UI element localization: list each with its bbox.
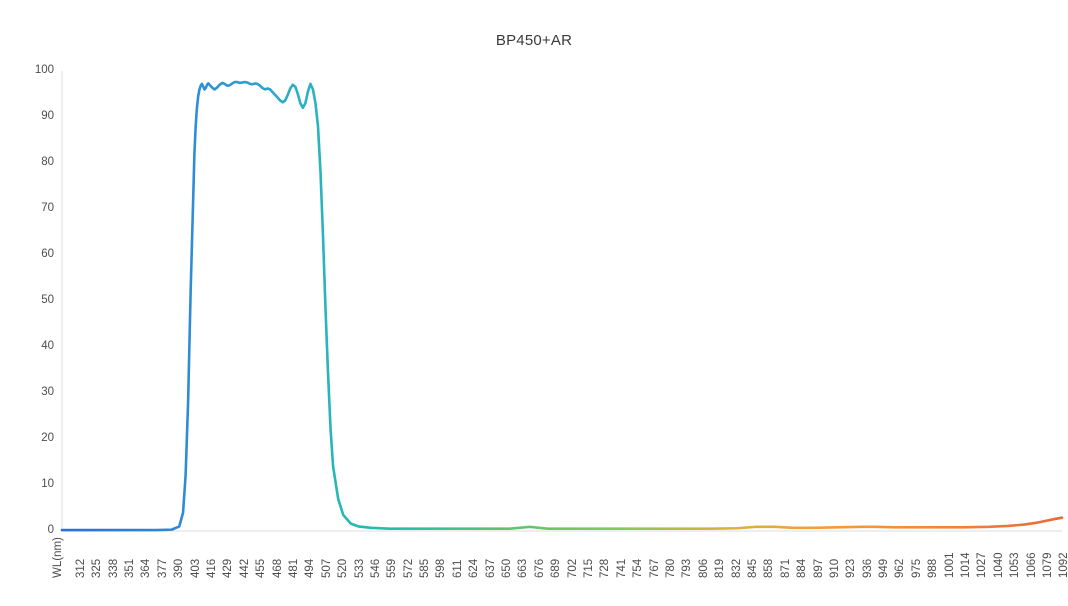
x-tick-label: 819: [715, 559, 726, 578]
x-tick-label: 832: [732, 559, 743, 578]
x-tick-label: 494: [305, 559, 316, 578]
x-tick-label: 806: [699, 559, 710, 578]
plot-area: [0, 0, 1068, 606]
x-tick-label: 1092: [1059, 552, 1068, 578]
x-tick-label: 858: [764, 559, 775, 578]
x-tick-label: 533: [355, 559, 366, 578]
x-tick-label: 741: [617, 559, 628, 578]
x-tick-label: 845: [748, 559, 759, 578]
x-tick-label: 728: [600, 559, 611, 578]
chart-container: BP450+AR 0102030405060708090100 31232533…: [0, 0, 1068, 606]
x-tick-label: 377: [158, 559, 169, 578]
y-tick-label: 30: [8, 387, 54, 398]
x-tick-label: 715: [584, 559, 595, 578]
x-tick-label: 312: [76, 559, 87, 578]
x-tick-label: 884: [797, 559, 808, 578]
x-tick-label: 325: [92, 559, 103, 578]
x-tick-label: 897: [814, 559, 825, 578]
x-tick-label: 598: [436, 559, 447, 578]
x-tick-label: 624: [469, 559, 480, 578]
y-tick-label: 20: [8, 433, 54, 444]
x-tick-label: 975: [912, 559, 923, 578]
x-tick-label: 559: [387, 559, 398, 578]
x-tick-label: 663: [518, 559, 529, 578]
x-tick-label: 468: [273, 559, 284, 578]
x-tick-label: 429: [223, 559, 234, 578]
x-tick-label: 910: [830, 559, 841, 578]
y-tick-label: 80: [8, 157, 54, 168]
x-tick-label: 936: [863, 559, 874, 578]
x-tick-label: 1014: [961, 552, 972, 578]
x-tick-label: 546: [371, 559, 382, 578]
x-tick-label: 949: [879, 559, 890, 578]
x-tick-label: 793: [682, 559, 693, 578]
x-tick-label: 481: [289, 559, 300, 578]
x-tick-label: 676: [535, 559, 546, 578]
x-tick-label: 702: [568, 559, 579, 578]
x-axis-label: WL(nm): [52, 537, 64, 578]
x-tick-label: 364: [141, 559, 152, 578]
x-tick-label: 1001: [945, 552, 956, 578]
y-tick-label: 50: [8, 295, 54, 306]
x-tick-label: 585: [420, 559, 431, 578]
x-tick-label: 689: [551, 559, 562, 578]
x-tick-label: 1066: [1027, 552, 1038, 578]
x-tick-label: 780: [666, 559, 677, 578]
y-tick-label: 0: [8, 525, 54, 536]
x-tick-label: 455: [256, 559, 267, 578]
x-tick-label: 507: [322, 559, 333, 578]
x-tick-label: 1053: [1010, 552, 1021, 578]
transmission-curve: [62, 82, 1062, 530]
x-tick-label: 520: [338, 559, 349, 578]
x-tick-label: 416: [207, 559, 218, 578]
x-tick-label: 338: [109, 559, 120, 578]
y-tick-label: 40: [8, 341, 54, 352]
x-tick-label: 767: [650, 559, 661, 578]
y-tick-label: 10: [8, 479, 54, 490]
x-tick-label: 572: [404, 559, 415, 578]
x-tick-label: 442: [240, 559, 251, 578]
x-tick-label: 1079: [1043, 552, 1054, 578]
x-tick-label: 611: [453, 560, 464, 578]
x-tick-label: 754: [633, 559, 644, 578]
x-tick-label: 637: [486, 559, 497, 578]
x-tick-label: 1027: [977, 552, 988, 578]
x-tick-label: 871: [781, 559, 792, 578]
y-tick-label: 60: [8, 249, 54, 260]
x-tick-label: 390: [174, 559, 185, 578]
x-tick-label: 1040: [994, 552, 1005, 578]
x-tick-label: 403: [191, 559, 202, 578]
x-tick-label: 988: [928, 559, 939, 578]
y-tick-label: 70: [8, 203, 54, 214]
x-tick-label: 650: [502, 559, 513, 578]
x-tick-label: 962: [895, 559, 906, 578]
x-tick-label: 351: [125, 559, 136, 578]
y-tick-label: 100: [8, 65, 54, 76]
y-tick-label: 90: [8, 111, 54, 122]
x-tick-label: 923: [846, 559, 857, 578]
